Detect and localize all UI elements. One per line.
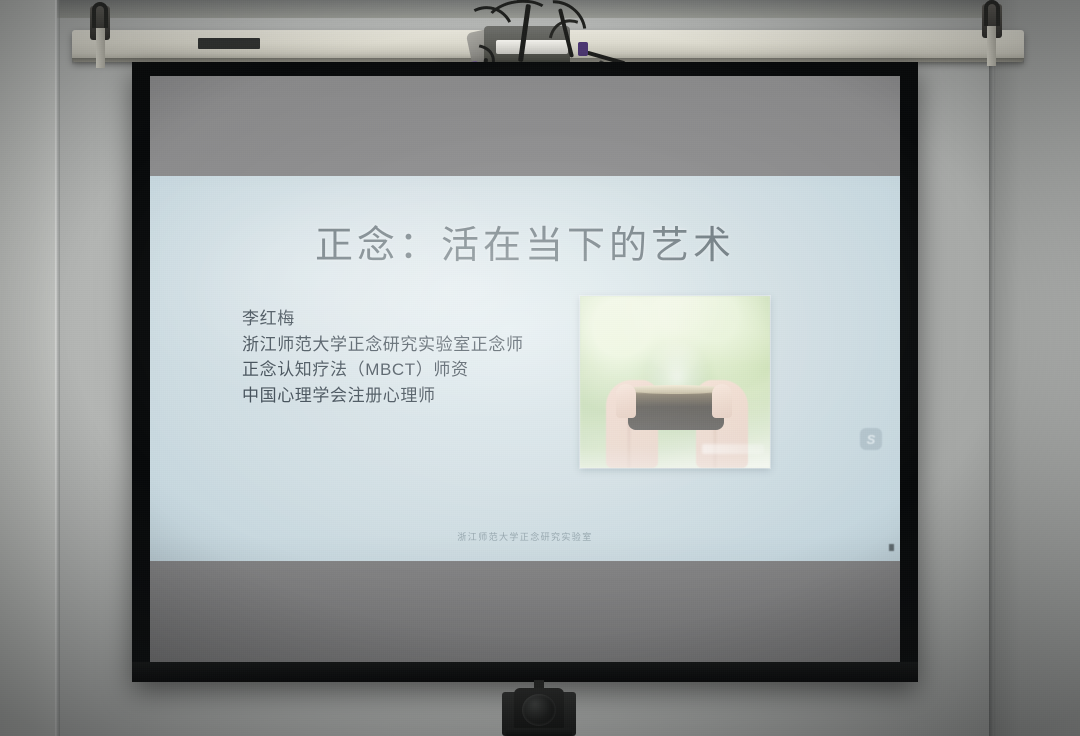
classroom-scene: 正念：活在当下的艺术 李红梅 浙江师范大学正念研究实验室正念师 正念认知疗法（M…	[0, 0, 1080, 736]
wall-light-gradient	[0, 0, 1080, 736]
